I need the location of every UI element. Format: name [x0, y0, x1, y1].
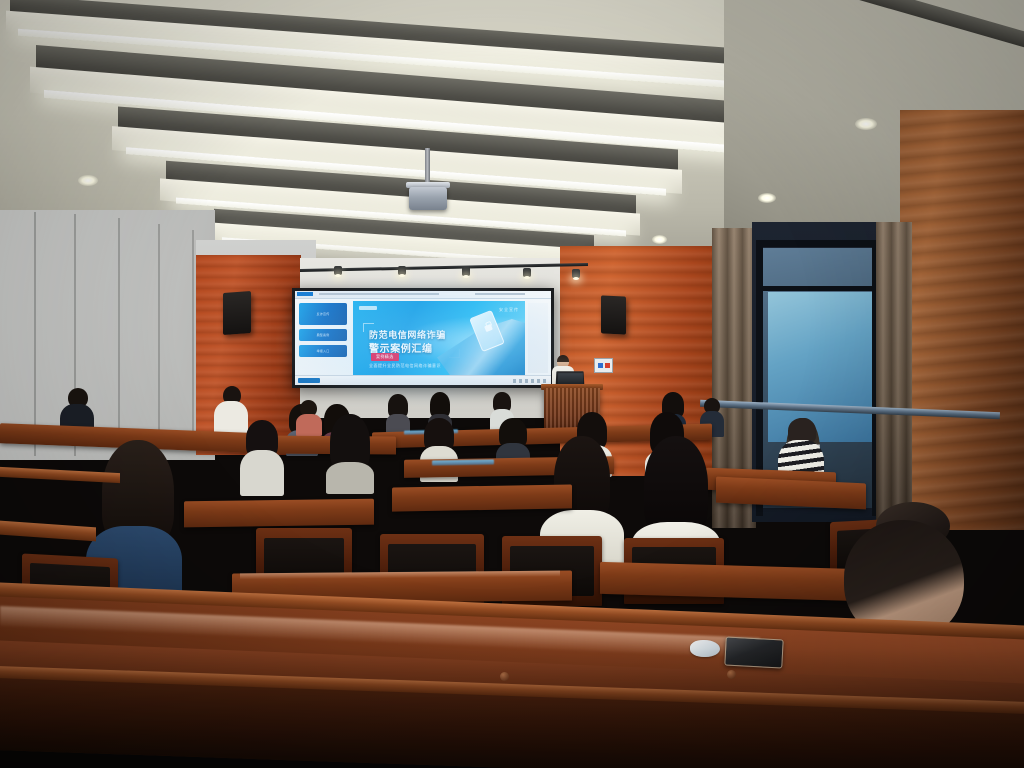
projector-rod [425, 148, 430, 184]
statusbar-items [513, 379, 547, 383]
downlight-2 [758, 193, 776, 203]
downlight-3 [652, 235, 667, 244]
window-mullion-horizontal [756, 240, 880, 247]
window-transom [758, 286, 878, 291]
taskbar-button[interactable] [298, 378, 320, 383]
lecture-hall-photo: 反诈宣传 典型案例 举报入口 安全宣传 防范电信网络诈骗 警示案例汇编 案例精选… [0, 0, 1024, 768]
audience-person-r3-1 [240, 420, 284, 490]
torso [296, 414, 322, 436]
desk-row-4 [184, 499, 374, 528]
sidebar-card-0[interactable]: 反诈宣传 [299, 303, 347, 325]
wall-switch-panel[interactable] [594, 358, 613, 373]
audience-person-r3-2 [326, 414, 374, 490]
sidebar-card-1[interactable]: 典型案例 [299, 329, 347, 341]
track-lamp-4 [523, 268, 531, 277]
audience-person-r1-1 [386, 394, 410, 432]
torso [326, 462, 374, 494]
wall-speaker-left [223, 291, 251, 335]
desk-knob-1 [727, 670, 736, 679]
track-lamp-2 [398, 266, 406, 275]
sidebar-card-2-label: 举报入口 [317, 349, 330, 353]
partition-seam-1 [34, 212, 36, 456]
sidebar-card-0-label: 反诈宣传 [317, 312, 330, 316]
desk-knob-2 [500, 672, 509, 681]
desk-row-4b [392, 484, 572, 511]
downlight-4 [78, 175, 98, 186]
tissue-object[interactable] [690, 640, 720, 657]
partition-seam-4 [158, 224, 160, 452]
projection-screen: 反诈宣传 典型案例 举报入口 安全宣传 防范电信网络诈骗 警示案例汇编 案例精选… [292, 288, 554, 388]
switch-square-1 [598, 363, 603, 368]
banner-badge: 案例精选 [371, 353, 399, 361]
track-lamp-5 [572, 269, 580, 278]
switch-square-2 [605, 363, 610, 368]
curtain-right [876, 222, 912, 530]
smartphone-object[interactable] [724, 637, 783, 669]
audience-person-r2-5 [296, 400, 322, 434]
wall-speaker-right [601, 295, 626, 334]
banner-subtitle: 全面提升全民防范电信网络诈骗意识 [369, 363, 441, 369]
browser-tab-active[interactable] [297, 292, 313, 296]
partition-seam-5 [192, 230, 194, 450]
banner-brand-label: 安全宣传 [499, 307, 519, 313]
browser-menu-bar[interactable] [475, 293, 525, 295]
anti-fraud-banner: 安全宣传 防范电信网络诈骗 警示案例汇编 案例精选 全面提升全民防范电信网络诈骗… [353, 301, 525, 375]
screen-content: 反诈宣传 典型案例 举报入口 安全宣传 防范电信网络诈骗 警示案例汇编 案例精选… [295, 291, 551, 385]
partition-seam-3 [118, 218, 120, 454]
desk-row-5-edge [0, 521, 96, 542]
browser-address-bar[interactable] [319, 293, 439, 295]
track-lamp-1 [334, 266, 342, 275]
browser-toolbar [295, 291, 551, 299]
laptop-screen [557, 373, 583, 385]
screen-sidebar: 反诈宣传 典型案例 举报入口 [299, 303, 347, 373]
projector-icon [409, 187, 447, 210]
banner-logo-icon [359, 306, 377, 310]
screen-right-rail [528, 303, 548, 373]
sidebar-card-1-label: 典型案例 [317, 333, 330, 337]
far-right-wood-column [900, 110, 1024, 530]
torso [240, 450, 284, 496]
left-partition-wall [0, 210, 215, 460]
track-lamp-3 [462, 267, 470, 276]
browser-statusbar [295, 375, 551, 385]
sidebar-card-2[interactable]: 举报入口 [299, 345, 347, 357]
downlight-1 [855, 118, 877, 130]
